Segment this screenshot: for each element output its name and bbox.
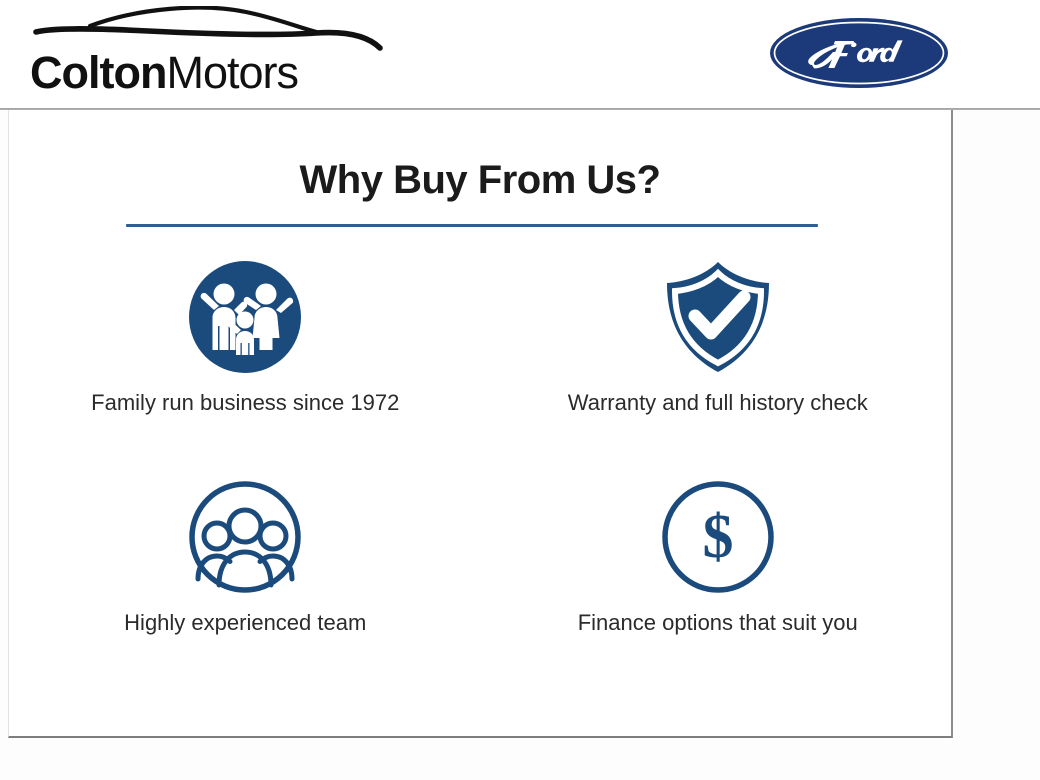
page-title: Why Buy From Us? xyxy=(9,158,951,203)
content-panel: Why Buy From Us? xyxy=(8,110,953,738)
feature-item-warranty: Warranty and full history check xyxy=(482,258,955,478)
feature-grid: Family run business since 1972 Warranty … xyxy=(9,258,954,698)
page-header: ColtonMotors xyxy=(0,0,1040,110)
promo-page: ColtonMotors Why Buy From Us? xyxy=(0,0,1040,780)
feature-item-family: Family run business since 1972 xyxy=(9,258,482,478)
brand-name-light: Motors xyxy=(166,47,298,98)
title-divider xyxy=(126,224,818,227)
team-group-icon xyxy=(186,478,304,596)
brand-name-bold: Colton xyxy=(30,47,166,98)
feature-label-team: Highly experienced team xyxy=(95,608,395,638)
feature-label-warranty: Warranty and full history check xyxy=(563,388,873,418)
colton-motors-logo[interactable]: ColtonMotors xyxy=(18,4,398,104)
feature-label-family: Family run business since 1972 xyxy=(85,388,405,418)
brand-wordmark: ColtonMotors xyxy=(30,48,298,98)
feature-item-team: Highly experienced team xyxy=(9,478,482,698)
svg-text:$: $ xyxy=(702,503,733,571)
family-icon xyxy=(186,258,304,376)
shield-check-icon xyxy=(659,258,777,376)
feature-item-finance: $ Finance options that suit you xyxy=(482,478,955,698)
feature-label-finance: Finance options that suit you xyxy=(563,608,873,638)
ford-oval-logo[interactable] xyxy=(768,16,950,90)
dollar-circle-icon: $ xyxy=(659,478,777,596)
